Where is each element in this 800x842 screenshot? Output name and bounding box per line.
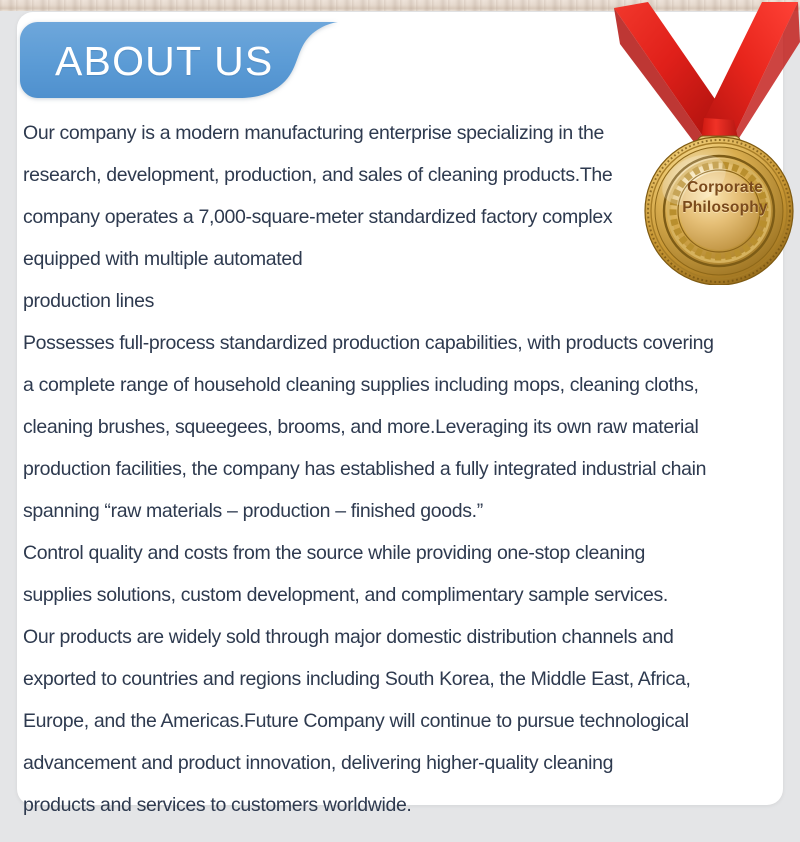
top-wood-strip <box>0 0 800 11</box>
body-line: Our products are widely sold through maj… <box>23 616 783 658</box>
paragraph-capabilities: Possesses full-process standardized prod… <box>23 322 783 532</box>
medal-caption-line-2: Philosophy <box>664 198 786 218</box>
body-line: products and services to customers world… <box>23 784 783 826</box>
body-line: spanning “raw materials – production – f… <box>23 490 783 532</box>
body-line: Possesses full-process standardized prod… <box>23 322 783 364</box>
paragraph-intro: Our company is a modern manufacturing en… <box>23 112 643 280</box>
medal-caption-line-1: Corporate <box>664 178 786 198</box>
paragraph-intro-tail: production lines <box>23 280 783 322</box>
medal-caption: Corporate Philosophy <box>664 178 786 218</box>
body-line: Control quality and costs from the sourc… <box>23 532 783 574</box>
body-line: supplies solutions, custom development, … <box>23 574 783 616</box>
body-line: production lines <box>23 280 783 322</box>
body-line: advancement and product innovation, deli… <box>23 742 783 784</box>
about-us-body: Our company is a modern manufacturing en… <box>23 112 783 826</box>
body-line: cleaning brushes, squeegees, brooms, and… <box>23 406 783 448</box>
body-line: production facilities, the company has e… <box>23 448 783 490</box>
paragraph-services: Control quality and costs from the sourc… <box>23 532 783 826</box>
body-line: exported to countries and regions includ… <box>23 658 783 700</box>
page-title: ABOUT US <box>55 36 273 86</box>
body-line: a complete range of household cleaning s… <box>23 364 783 406</box>
body-line: Europe, and the Americas.Future Company … <box>23 700 783 742</box>
